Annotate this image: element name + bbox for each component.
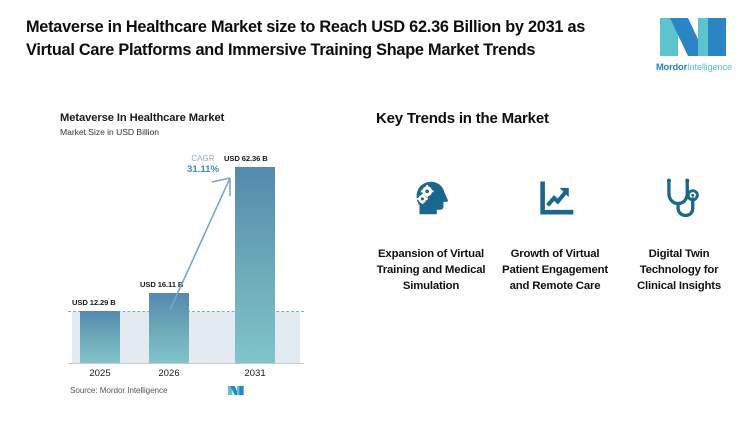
x-tick-2026: 2026 — [139, 368, 199, 379]
key-trends-columns: Expansion of Virtual Training and Medica… — [372, 172, 738, 295]
mordor-intelligence-logo: MordorIntelligence — [648, 14, 740, 76]
head-with-gears-icon — [408, 172, 454, 224]
cagr-caption: CAGR — [172, 154, 234, 163]
trend-label-1: Expansion of Virtual Training and Medica… — [372, 246, 490, 295]
chart-source-row: Source: Mordor Intelligence — [70, 384, 312, 397]
chart-x-axis-line — [68, 363, 304, 364]
cagr-value: 31.11% — [172, 164, 234, 175]
stethoscope-icon — [657, 172, 701, 224]
page-title: Metaverse in Healthcare Market size to R… — [26, 16, 626, 62]
trend-item-1: Expansion of Virtual Training and Medica… — [372, 172, 490, 295]
trend-label-3: Digital Twin Technology for Clinical Ins… — [620, 246, 738, 295]
x-tick-2031: 2031 — [225, 368, 285, 379]
trend-item-2: Growth of Virtual Patient Engagement and… — [496, 172, 614, 295]
market-size-chart: Metaverse In Healthcare Market Market Si… — [60, 112, 312, 408]
logo-word-intelligence: Intelligence — [687, 61, 732, 72]
chart-subtitle: Market Size in USD Billion — [60, 127, 312, 137]
cagr-annotation: CAGR 31.11% — [172, 154, 234, 175]
growth-chart-icon — [533, 172, 577, 224]
trend-label-2: Growth of Virtual Patient Engagement and… — [496, 246, 614, 295]
mordor-logo-wordmark: MordorIntelligence — [648, 61, 740, 72]
page-header: Metaverse in Healthcare Market size to R… — [0, 0, 750, 96]
logo-word-mordor: Mordor — [656, 61, 687, 72]
chart-source-text: Source: Mordor Intelligence — [70, 386, 167, 395]
trend-item-3: Digital Twin Technology for Clinical Ins… — [620, 172, 738, 295]
x-tick-2025: 2025 — [70, 368, 130, 379]
cagr-arrow-icon — [164, 164, 244, 312]
bar-2025 — [80, 311, 120, 363]
bar-value-label-2025: USD 12.29 B — [72, 298, 116, 307]
chart-plot-area: USD 12.29 B USD 16.11 B USD 62.36 B CAGR… — [60, 152, 312, 370]
mordor-logo-mark-small — [225, 384, 247, 397]
key-trends-section: Key Trends in the Market — [372, 110, 738, 380]
key-trends-heading: Key Trends in the Market — [376, 110, 738, 127]
chart-title: Metaverse In Healthcare Market — [60, 112, 312, 124]
mordor-logo-mark — [648, 14, 740, 60]
